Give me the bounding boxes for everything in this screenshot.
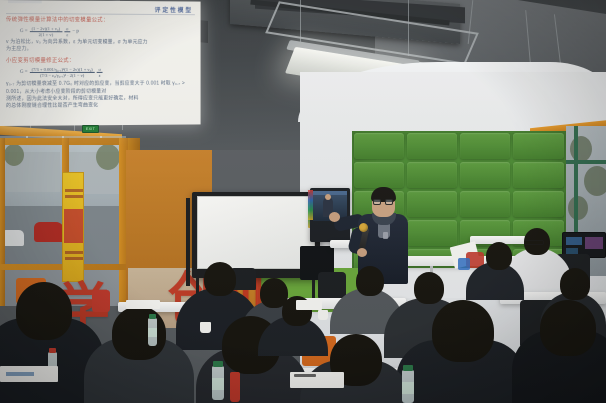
outside-tree-2: [96, 144, 120, 170]
bottle-cap: [213, 361, 223, 367]
slide-equation-1: G = (1 − 2v)(1 + v₀)2(1 + v) σε − p: [20, 26, 195, 38]
whiteboard-surface[interactable]: [197, 196, 315, 269]
pen[interactable]: [294, 374, 316, 377]
audience-head-foreground: [540, 300, 596, 356]
outside-tree-1: [4, 144, 24, 166]
bottle-label: [212, 378, 224, 390]
slide-heading-1: 传统弹性模量计算法中的切变模量公式：: [6, 16, 195, 25]
yellow-roll-up-banner: [62, 172, 84, 282]
bottle-cap: [49, 348, 56, 353]
corner-monitor-content-1: [566, 237, 582, 245]
speaker-right-hand: [357, 248, 367, 257]
green-panel: [513, 191, 564, 217]
green-panel: [354, 133, 404, 159]
outside-red-car: [34, 222, 62, 242]
red-bottle[interactable]: [230, 372, 240, 402]
left-window-glass-1: [4, 144, 62, 264]
green-panel: [407, 162, 457, 188]
banner-text-line: [65, 251, 83, 254]
green-panel: [407, 133, 457, 159]
notebook-2[interactable]: [126, 300, 160, 309]
exit-sign-label: EXIT: [86, 127, 95, 131]
notebook[interactable]: [296, 300, 322, 310]
green-panel: [354, 162, 404, 188]
projected-slide: 评定性模型 传统弹性模量计算法中的切变模量公式： G = (1 − 2v)(1 …: [0, 0, 201, 126]
slide-note-1b: 为主应力。: [6, 46, 195, 53]
audience-head: [486, 242, 512, 270]
audience-glasses-icon: [524, 240, 544, 245]
paper-cup[interactable]: [318, 310, 328, 320]
speaker-glasses-icon: [373, 199, 394, 205]
window-frame-left: [0, 138, 5, 306]
chair-black-1[interactable]: [318, 272, 346, 298]
bottle-label: [148, 328, 157, 337]
green-panel: [513, 133, 564, 159]
slide-divider: [6, 13, 195, 15]
audience-head: [560, 268, 590, 300]
audience-head-foreground: [112, 306, 166, 360]
blue-object-podium: [458, 258, 470, 270]
lecture-hall-photo: 学 创 业 评定性模型 传统弹性模量计算法中的切变模量公式： G = (1 − …: [0, 0, 606, 403]
whiteboard-post: [186, 198, 190, 286]
feed-speaker-head: [325, 194, 331, 200]
green-panel: [407, 220, 457, 246]
green-panel: [460, 162, 510, 188]
green-panel: [460, 133, 510, 159]
exit-sign: EXIT: [82, 125, 99, 133]
green-panel: [407, 191, 457, 217]
bottle-cap: [149, 314, 156, 319]
speaker-left-hand: [329, 212, 340, 222]
audience-head: [356, 266, 384, 296]
tree-right-3: [568, 196, 588, 220]
slide-equation-2: G = (7/3 + 0.001/γ₀.₇)²(1 − 2v)(1 + v₀)(…: [20, 67, 195, 78]
monitor-side-strip: [308, 190, 313, 220]
corner-monitor-content-2: [585, 237, 603, 249]
tree-right-2: [584, 166, 606, 196]
outside-white-car: [4, 230, 24, 246]
notebook-label: [6, 372, 34, 376]
slide-heading-2: 小应变剪切模量修正公式：: [6, 57, 195, 65]
green-panel: [513, 162, 564, 188]
banner-text-line: [65, 189, 83, 192]
audience-head: [414, 272, 444, 304]
audience-head-foreground: [432, 300, 494, 362]
banner-text-line: [65, 257, 83, 260]
paper-cup[interactable]: [200, 322, 211, 333]
right-window-mullion-h: [566, 160, 606, 164]
slide-title: 评定性模型: [155, 5, 193, 14]
glasses-lens-left: [373, 199, 381, 205]
slide-note-4: 的总体刚度链合理性比是否产生弯曲变化: [6, 102, 195, 110]
banner-red-block: [64, 209, 84, 243]
microphone-head-icon: [359, 223, 368, 232]
bottle-label: [402, 382, 414, 394]
audience-head-foreground: [16, 282, 72, 340]
chair-red-1[interactable]: [92, 290, 110, 312]
slide-note-2: γ₀.₇ 为剪切模量衰减至 0.7G₀ 时对应的剪应变，当剪应变大于 0.001…: [6, 81, 195, 96]
banner-text-line: [65, 195, 83, 198]
glasses-lens-right: [385, 199, 393, 205]
speaker-name-badge: [383, 232, 388, 239]
bottle-cap: [403, 365, 413, 371]
green-panel: [460, 191, 510, 217]
audience-head: [204, 262, 236, 296]
